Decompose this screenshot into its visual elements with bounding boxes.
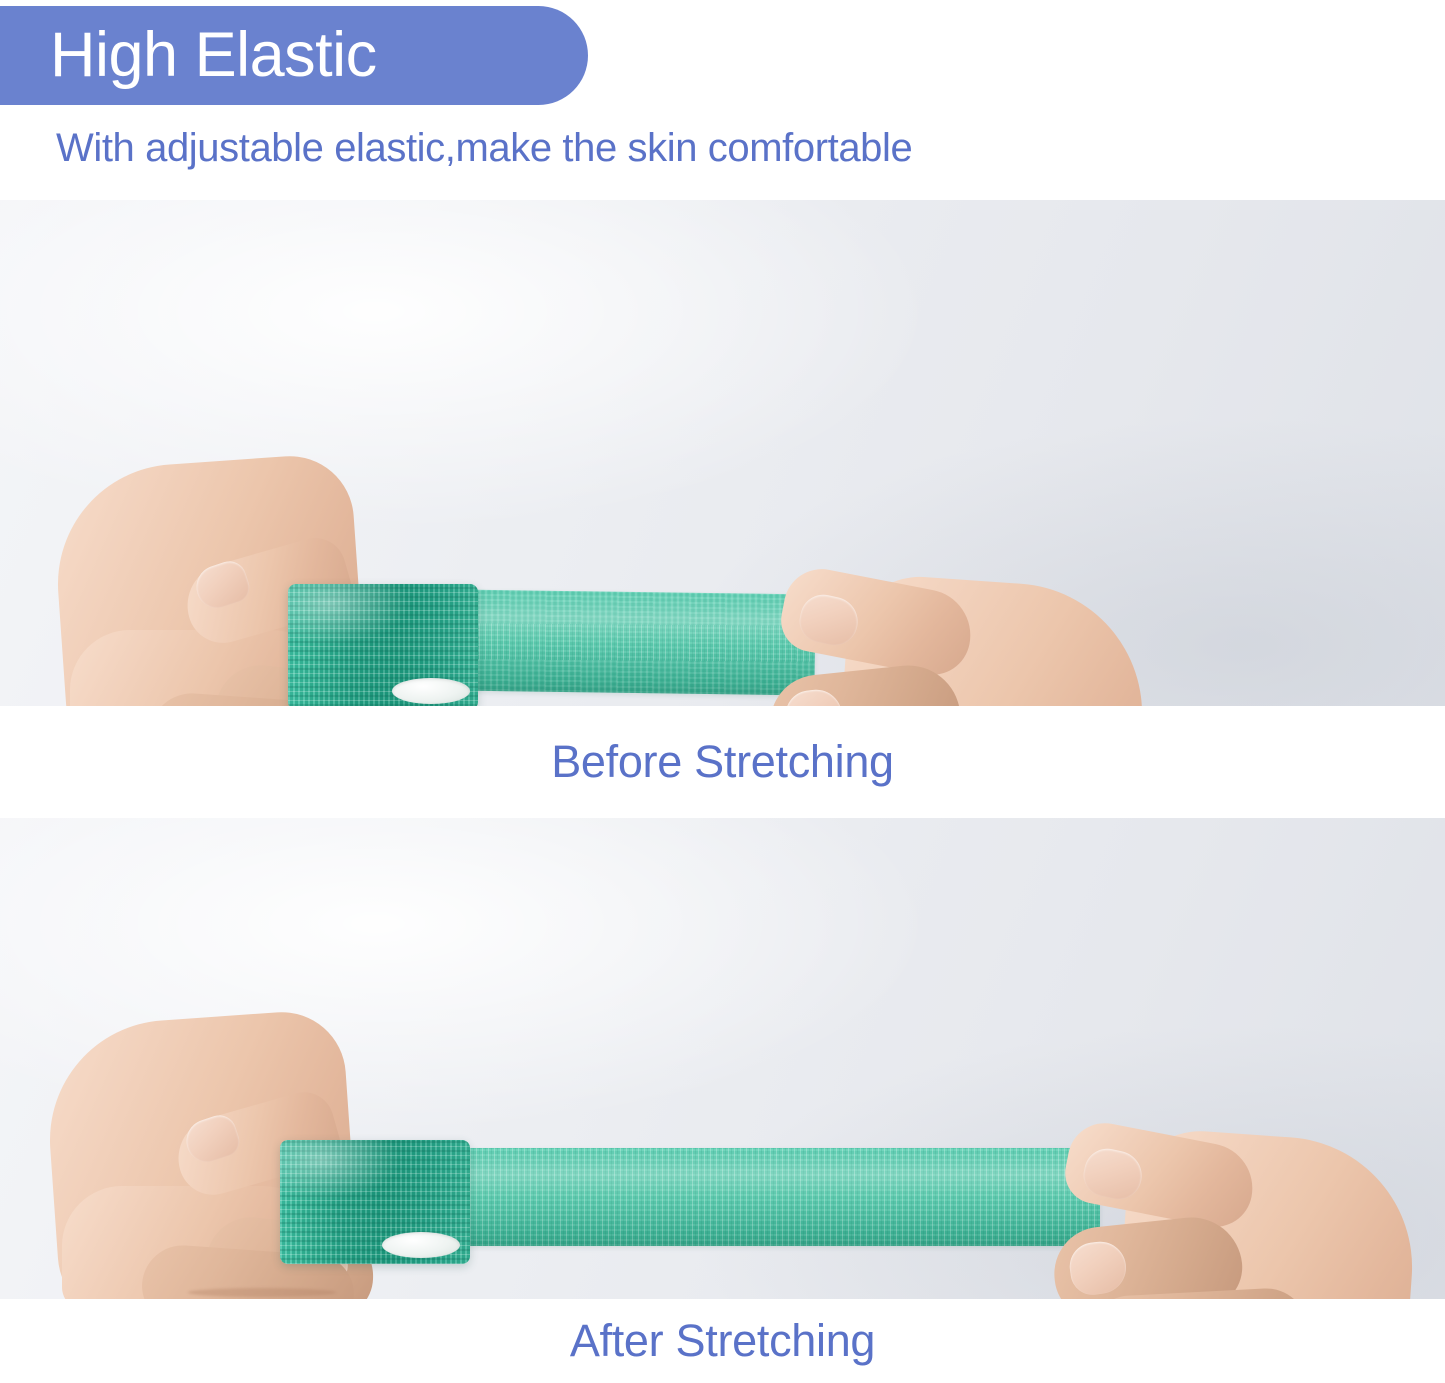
left-knuckle-crease (188, 1288, 336, 1297)
high-elastic-badge: High Elastic (0, 6, 588, 105)
caption-after-stretching: After Stretching (0, 1299, 1445, 1383)
caption-after-label: After Stretching (570, 1315, 875, 1367)
tape-band-after (440, 1148, 1100, 1246)
tape-band-before (454, 589, 815, 695)
badge-label: High Elastic (50, 24, 377, 87)
caption-before-label: Before Stretching (551, 736, 894, 788)
header-subtitle: With adjustable elastic,make the skin co… (56, 126, 912, 171)
header: High Elastic With adjustable elastic,mak… (0, 0, 1445, 196)
caption-before-stretching: Before Stretching (0, 706, 1445, 818)
photo-before-stretching (0, 200, 1445, 706)
photo-after-stretching (0, 818, 1445, 1299)
tape-roll-core-before (392, 678, 470, 704)
tape-roll-core-after (382, 1232, 460, 1258)
